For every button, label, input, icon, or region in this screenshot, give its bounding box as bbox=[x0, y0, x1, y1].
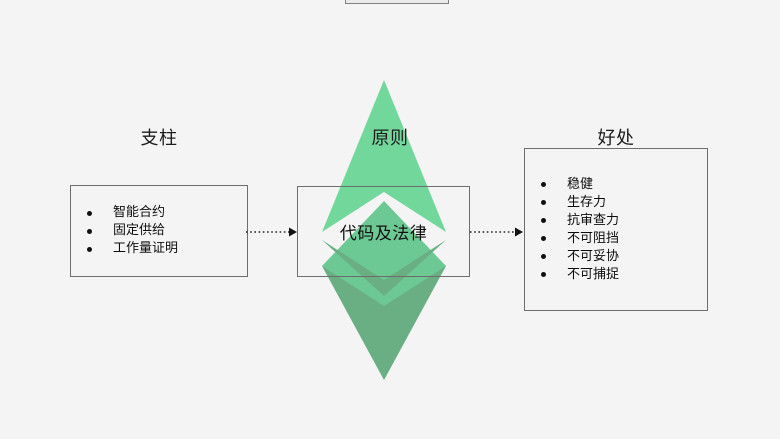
list-item: 抗审查力 bbox=[525, 212, 707, 230]
pillars-heading: 支柱 bbox=[70, 124, 248, 150]
benefits-heading: 好处 bbox=[524, 124, 708, 150]
list-item-label: 稳健 bbox=[567, 176, 593, 194]
connector-center-to-right bbox=[470, 226, 524, 238]
list-item: 工作量证明 bbox=[71, 240, 247, 258]
list-item: 不可妥协 bbox=[525, 248, 707, 266]
code-is-law-label: 代码及法律 bbox=[297, 186, 470, 277]
list-item: 智能合约 bbox=[71, 204, 247, 222]
list-item: 稳健 bbox=[525, 176, 707, 194]
bullet-dot-icon bbox=[541, 218, 546, 223]
list-item: 不可阻挡 bbox=[525, 230, 707, 248]
list-item-label: 工作量证明 bbox=[113, 240, 178, 258]
bullet-dot-icon bbox=[541, 236, 546, 241]
bullet-dot-icon bbox=[87, 247, 92, 252]
diagram-canvas: 支柱 智能合约 固定供给 工作量证明 bbox=[0, 0, 780, 439]
list-item-label: 固定供给 bbox=[113, 222, 165, 240]
list-item-label: 生存力 bbox=[567, 194, 606, 212]
list-item-label: 不可阻挡 bbox=[567, 230, 619, 248]
list-item: 固定供给 bbox=[71, 222, 247, 240]
bullet-dot-icon bbox=[541, 182, 546, 187]
list-item-label: 智能合约 bbox=[113, 204, 165, 222]
benefits-box: 稳健 生存力 抗审查力 不可阻挡 不可妥协 不可捕捉 bbox=[524, 148, 708, 311]
principles-heading: 原则 bbox=[340, 124, 440, 150]
clipped-rectangle-shape bbox=[345, 0, 449, 4]
benefits-list: 稳健 生存力 抗审查力 不可阻挡 不可妥协 不可捕捉 bbox=[525, 176, 707, 284]
list-item-label: 不可妥协 bbox=[567, 248, 619, 266]
list-item: 不可捕捉 bbox=[525, 266, 707, 284]
list-item: 生存力 bbox=[525, 194, 707, 212]
bullet-dot-icon bbox=[541, 254, 546, 259]
connector-left-to-center bbox=[246, 226, 298, 238]
bullet-dot-icon bbox=[541, 200, 546, 205]
pillars-list: 智能合约 固定供给 工作量证明 bbox=[71, 204, 247, 258]
list-item-label: 抗审查力 bbox=[567, 212, 619, 230]
bullet-dot-icon bbox=[541, 272, 546, 277]
bullet-dot-icon bbox=[87, 211, 92, 216]
list-item-label: 不可捕捉 bbox=[567, 266, 619, 284]
pillars-box: 智能合约 固定供给 工作量证明 bbox=[70, 185, 248, 277]
bullet-dot-icon bbox=[87, 229, 92, 234]
